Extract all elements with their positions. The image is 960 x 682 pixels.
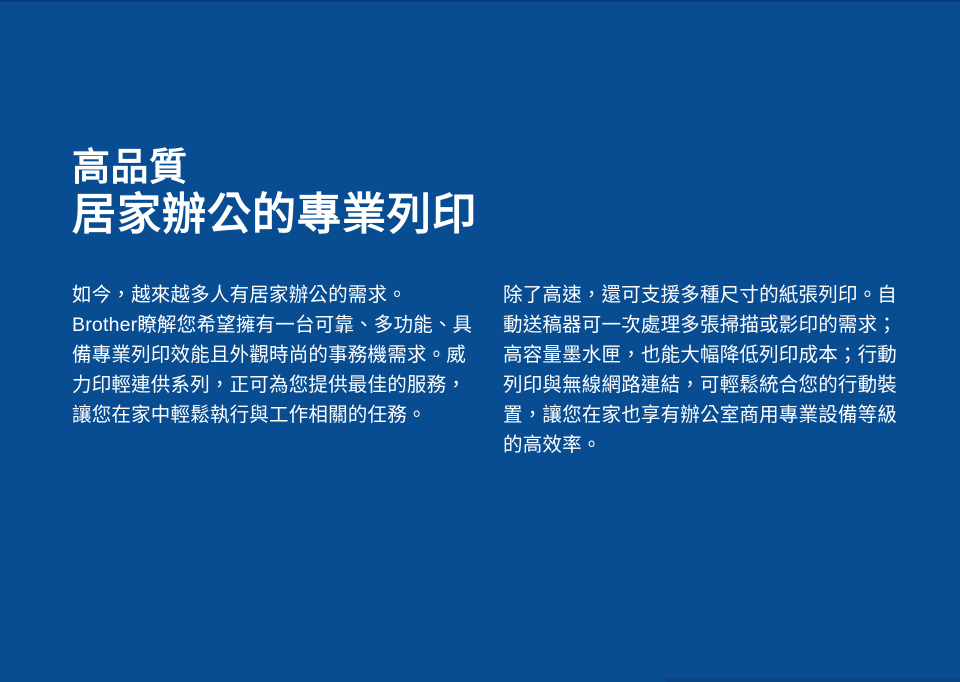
body-line: 備專業列印效能且外觀時尚的事務機需求。威 (72, 340, 468, 370)
body-column-left: 如今，越來越多人有居家辦公的需求。 Brother瞭解您希望擁有一台可靠、多功能… (72, 280, 468, 430)
headline-line-primary: 高品質 (72, 146, 892, 190)
body-line: 高容量墨水匣，也能大幅降低列印成本；行動 (503, 340, 907, 370)
body-line: 力印輕連供系列，正可為您提供最佳的服務， (72, 370, 468, 400)
body-line: 列印與無線網路連結，可輕鬆統合您的行動裝 (503, 370, 907, 400)
body-line: 讓您在家中輕鬆執行與工作相關的任務。 (72, 400, 468, 430)
top-edge-rule (0, 0, 960, 2)
promo-slide: 高品質 居家辦公的專業列印 如今，越來越多人有居家辦公的需求。 Brother瞭… (0, 0, 960, 682)
body-line: 置，讓您在家也享有辦公室商用專業設備等級 (503, 400, 907, 430)
body-columns: 如今，越來越多人有居家辦公的需求。 Brother瞭解您希望擁有一台可靠、多功能… (72, 280, 912, 460)
page-title: 高品質 居家辦公的專業列印 (72, 146, 892, 240)
bottom-edge-rule (665, 678, 960, 682)
body-line: 動送稿器可一次處理多張掃描或影印的需求； (503, 310, 907, 340)
body-line: 除了高速，還可支援多種尺寸的紙張列印。自 (503, 280, 907, 310)
body-column-right: 除了高速，還可支援多種尺寸的紙張列印。自 動送稿器可一次處理多張掃描或影印的需求… (503, 280, 907, 460)
body-line: 的高效率。 (503, 430, 907, 460)
body-line: Brother瞭解您希望擁有一台可靠、多功能、具 (72, 310, 468, 340)
headline-line-secondary: 居家辦公的專業列印 (72, 190, 892, 240)
body-line: 如今，越來越多人有居家辦公的需求。 (72, 280, 468, 310)
